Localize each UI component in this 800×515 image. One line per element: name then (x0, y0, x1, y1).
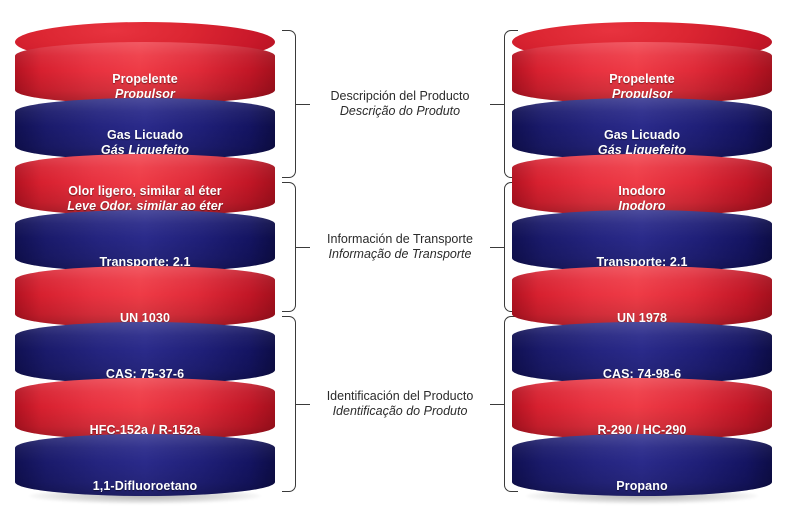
tick-left-identificacion (296, 404, 310, 405)
cylinder-band-label: Gas LicuadoGás Liquefeito (15, 128, 275, 157)
group-label-pt: Identificação do Produto (310, 404, 490, 419)
tick-right-transporte (490, 247, 504, 248)
bracket-left-transporte (282, 182, 296, 312)
tick-right-identificacion (490, 404, 504, 405)
band-label-es: 1,1-Difluoroetano (27, 479, 263, 494)
band-label-es: Propelente (27, 72, 263, 87)
tick-left-descripcion (296, 104, 310, 105)
cylinder-band-label: Propano (512, 479, 772, 494)
cylinder-band-label: Gas LicuadoGás Liquefeito (512, 128, 772, 157)
cylinder-band: Olor ligero, similar al éterLeve Odor, s… (15, 154, 275, 216)
cylinder-band: InodoroInodoro (512, 154, 772, 216)
infographic-canvas: PropelentePropulsorGas LicuadoGás Liquef… (0, 0, 800, 515)
cylinder-band: Gas LicuadoGás Liquefeito (512, 98, 772, 160)
cylinder-band: Transporte: 2.1 (512, 210, 772, 272)
group-label-transporte: Información de Transporte Informação de … (310, 232, 490, 262)
group-label-es: Descripción del Producto (310, 89, 490, 104)
cylinder-band: UN 1030 (15, 266, 275, 328)
cylinder-band: R-290 / HC-290 (512, 378, 772, 440)
group-label-identificacion: Identificación del Producto Identificaçã… (310, 389, 490, 419)
band-label-es: Inodoro (524, 184, 760, 199)
cylinder-band: PropelentePropulsor (512, 42, 772, 104)
cylinder-band: Gas LicuadoGás Liquefeito (15, 98, 275, 160)
group-label-es: Información de Transporte (310, 232, 490, 247)
cylinder-band: CAS: 74-98-6 (512, 322, 772, 384)
group-informacion-de-transporte: Información de Transporte Informação de … (282, 182, 518, 312)
bracket-left-identificacion (282, 316, 296, 492)
group-identificacion-del-producto: Identificación del Producto Identificaçã… (282, 316, 518, 492)
cylinder-band: CAS: 75-37-6 (15, 322, 275, 384)
group-label-pt: Descrição do Produto (310, 104, 490, 119)
tick-left-transporte (296, 247, 310, 248)
cylinder-band: 1,1-Difluoroetano (15, 434, 275, 496)
cylinder-band-label: Olor ligero, similar al éterLeve Odor, s… (15, 184, 275, 213)
group-label-es: Identificación del Producto (310, 389, 490, 404)
band-label-es: Gas Licuado (27, 128, 263, 143)
band-label-es: Propano (524, 479, 760, 494)
right-product-stack: PropelentePropulsorGas LicuadoGás Liquef… (512, 22, 772, 492)
left-product-stack: PropelentePropulsorGas LicuadoGás Liquef… (15, 22, 275, 492)
group-label-descripcion: Descripción del Producto Descrição do Pr… (310, 89, 490, 119)
group-descripcion-del-producto: Descripción del Producto Descrição do Pr… (282, 30, 518, 178)
cylinder-band: Propano (512, 434, 772, 496)
cylinder-band-label: PropelentePropulsor (512, 72, 772, 101)
cylinder-band: HFC-152a / R-152a (15, 378, 275, 440)
cylinder-band: Transporte: 2.1 (15, 210, 275, 272)
band-label-es: Olor ligero, similar al éter (27, 184, 263, 199)
cylinder-band-label: InodoroInodoro (512, 184, 772, 213)
cylinder-band: PropelentePropulsor (15, 42, 275, 104)
group-label-pt: Informação de Transporte (310, 247, 490, 262)
band-label-es: Gas Licuado (524, 128, 760, 143)
cylinder-band: UN 1978 (512, 266, 772, 328)
bracket-left-descripcion (282, 30, 296, 178)
cylinder-band-label: PropelentePropulsor (15, 72, 275, 101)
tick-right-descripcion (490, 104, 504, 105)
cylinder-band-label: 1,1-Difluoroetano (15, 479, 275, 494)
band-label-es: Propelente (524, 72, 760, 87)
